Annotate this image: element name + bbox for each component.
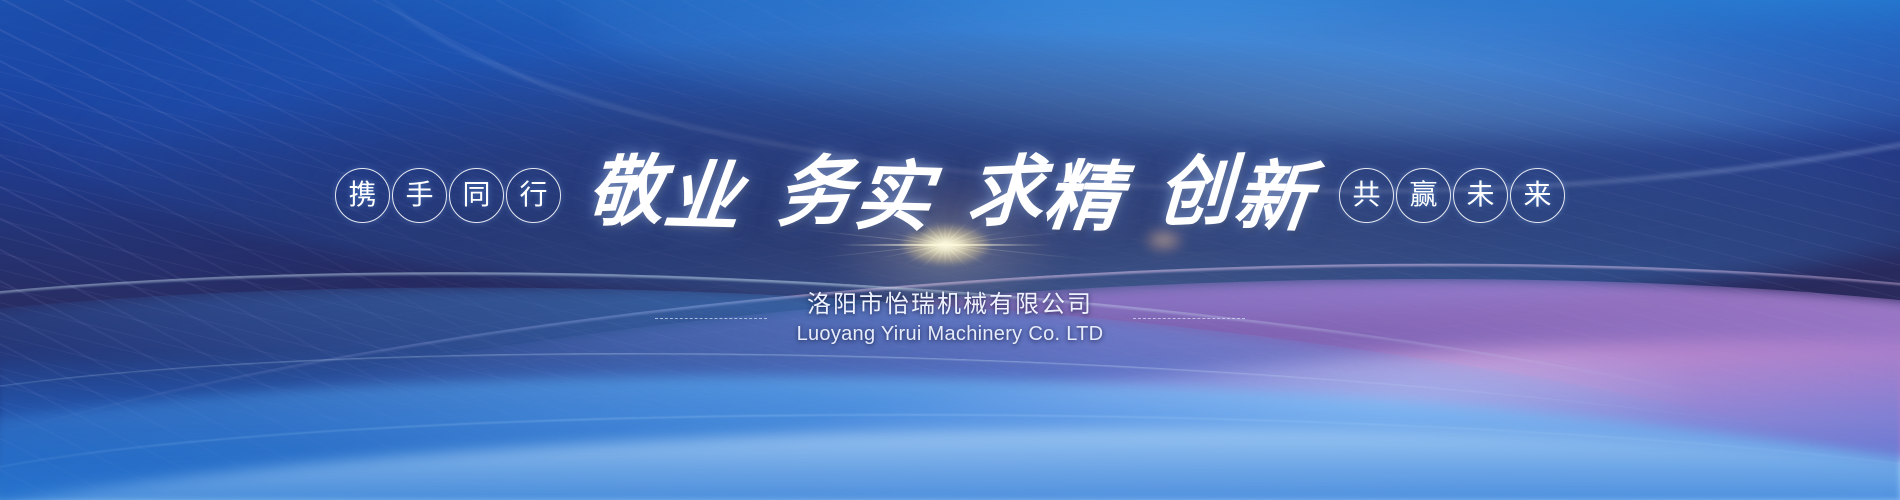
- circled-char-xie: 携: [335, 168, 390, 223]
- slogan-char-chuang: 创: [1155, 152, 1237, 231]
- slogan-char-shi: 实: [851, 158, 937, 236]
- company-name-chinese: 洛阳市怡瑞机械有限公司: [797, 288, 1104, 320]
- company-names: 洛阳市怡瑞机械有限公司 Luoyang Yirui Machinery Co. …: [797, 288, 1104, 349]
- banner-content: 携 手 同 行 敬业 务实 求精 创新 共: [0, 0, 1900, 500]
- left-circled-slogan: 携 手 同 行: [335, 168, 561, 223]
- company-name-row: 洛阳市怡瑞机械有限公司 Luoyang Yirui Machinery Co. …: [0, 288, 1900, 349]
- slogan-char-qiu: 求: [965, 152, 1047, 231]
- slogan-char-xin: 新: [1231, 158, 1317, 236]
- slogan-word-wushi: 务实: [774, 157, 937, 233]
- company-name-english: Luoyang Yirui Machinery Co. LTD: [797, 320, 1104, 349]
- slogan-char-jing2: 精: [1041, 158, 1127, 236]
- circled-char-shou: 手: [392, 168, 447, 223]
- circled-char-ying: 赢: [1396, 168, 1451, 223]
- dashed-divider-left: [655, 318, 767, 319]
- slogan-word-jingye: 敬业: [584, 157, 747, 233]
- slogan-word-qiujing: 求精: [964, 157, 1127, 233]
- circled-char-tong: 同: [449, 168, 504, 223]
- slogan-row: 携 手 同 行 敬业 务实 求精 创新 共: [0, 140, 1900, 250]
- dashed-divider-right: [1133, 318, 1245, 319]
- slogan-char-jing: 敬: [585, 152, 667, 231]
- circled-char-xing: 行: [506, 168, 561, 223]
- slogan-char-ye: 业: [661, 158, 747, 236]
- circled-char-lai: 来: [1510, 168, 1565, 223]
- slogan-char-wu: 务: [775, 152, 857, 231]
- circled-char-wei: 未: [1453, 168, 1508, 223]
- company-culture-banner: 携 手 同 行 敬业 务实 求精 创新 共: [0, 0, 1900, 500]
- right-circled-slogan: 共 赢 未 来: [1339, 168, 1565, 223]
- slogan-word-chuangxin: 创新: [1154, 157, 1317, 233]
- main-slogan-calligraphy: 敬业 务实 求精 创新: [584, 157, 1317, 233]
- circled-char-gong: 共: [1339, 168, 1394, 223]
